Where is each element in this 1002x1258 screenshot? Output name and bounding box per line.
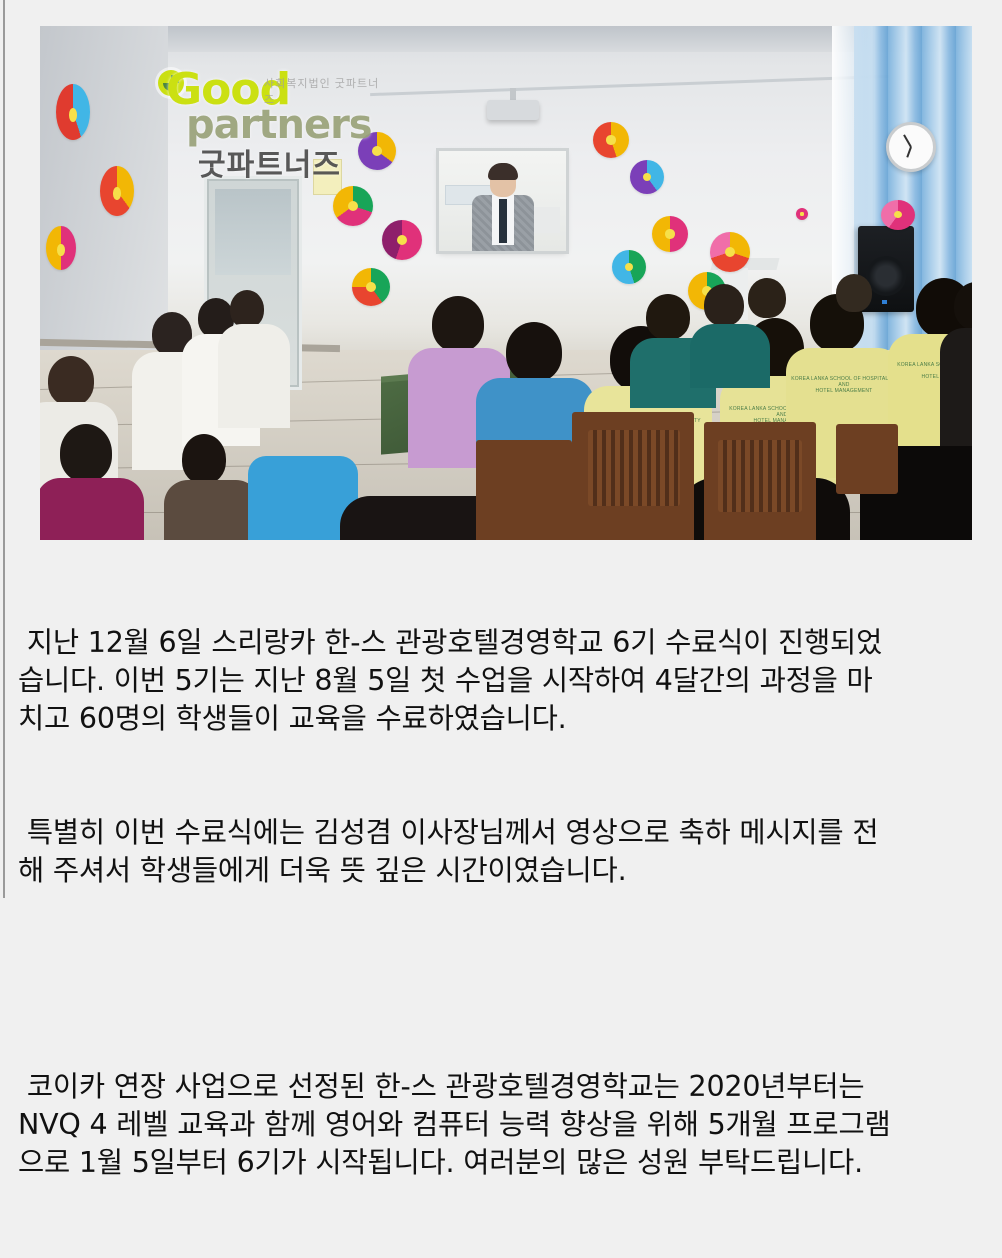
paper-flower	[593, 122, 629, 158]
chair-backrest-slats	[718, 440, 802, 512]
logo-korean-text: 굿파트너즈	[198, 140, 341, 184]
speaker-tie	[499, 199, 507, 243]
article-page: KOREA LANKA SCHOOL OF HOSPITALITY AND HO…	[0, 0, 1002, 898]
wooden-chair	[476, 440, 572, 540]
paper-flower	[652, 216, 688, 252]
paragraph-spacer	[18, 966, 986, 992]
paper-flower	[333, 186, 373, 226]
paper-flower	[710, 232, 750, 272]
paper-flower	[46, 226, 76, 270]
speaker-led-icon	[882, 300, 887, 304]
ceremony-photo: KOREA LANKA SCHOOL OF HOSPITALITY AND HO…	[40, 26, 972, 540]
paper-flower	[352, 268, 390, 306]
chair-backrest-slats	[588, 430, 680, 506]
photo-scene: KOREA LANKA SCHOOL OF HOSPITALITY AND HO…	[40, 26, 972, 540]
uniform-shirt-text: KOREA LANKA SCHOOL OF HOSPITALITY AND HO…	[786, 376, 902, 394]
door-glass-panel	[215, 189, 291, 275]
article-caption: 지난 12월 6일 스리랑카 한-스 관광호텔경영학교 6기 수료식이 진행되었…	[18, 548, 986, 1258]
wall-clock-icon	[886, 122, 936, 172]
ceiling-projector	[487, 100, 539, 120]
caption-paragraph-3: 코이카 연장 사업으로 선정된 한-스 관광호텔경영학교는 2020년부터는 N…	[18, 1068, 986, 1182]
page-left-rule	[3, 0, 5, 898]
paper-flower	[100, 166, 134, 216]
watermark-logo: Good 사회복지법인 굿파트너즈 partners 굿파트너즈	[136, 64, 386, 174]
paper-flower	[796, 208, 808, 220]
paper-flower	[382, 220, 422, 260]
projection-screen	[439, 151, 566, 251]
caption-paragraph-2: 특별히 이번 수료식에는 김성겸 이사장님께서 영상으로 축하 메시지를 전 해…	[18, 814, 986, 890]
speaker-hair	[488, 163, 518, 180]
ceiling-trim-line	[370, 75, 890, 96]
paper-flower	[881, 200, 915, 230]
caption-paragraph-1: 지난 12월 6일 스리랑카 한-스 관광호텔경영학교 6기 수료식이 진행되었…	[18, 624, 986, 738]
wooden-chair	[836, 424, 898, 494]
paper-flower	[612, 250, 646, 284]
paper-flower	[630, 160, 664, 194]
paper-flower	[56, 84, 90, 140]
